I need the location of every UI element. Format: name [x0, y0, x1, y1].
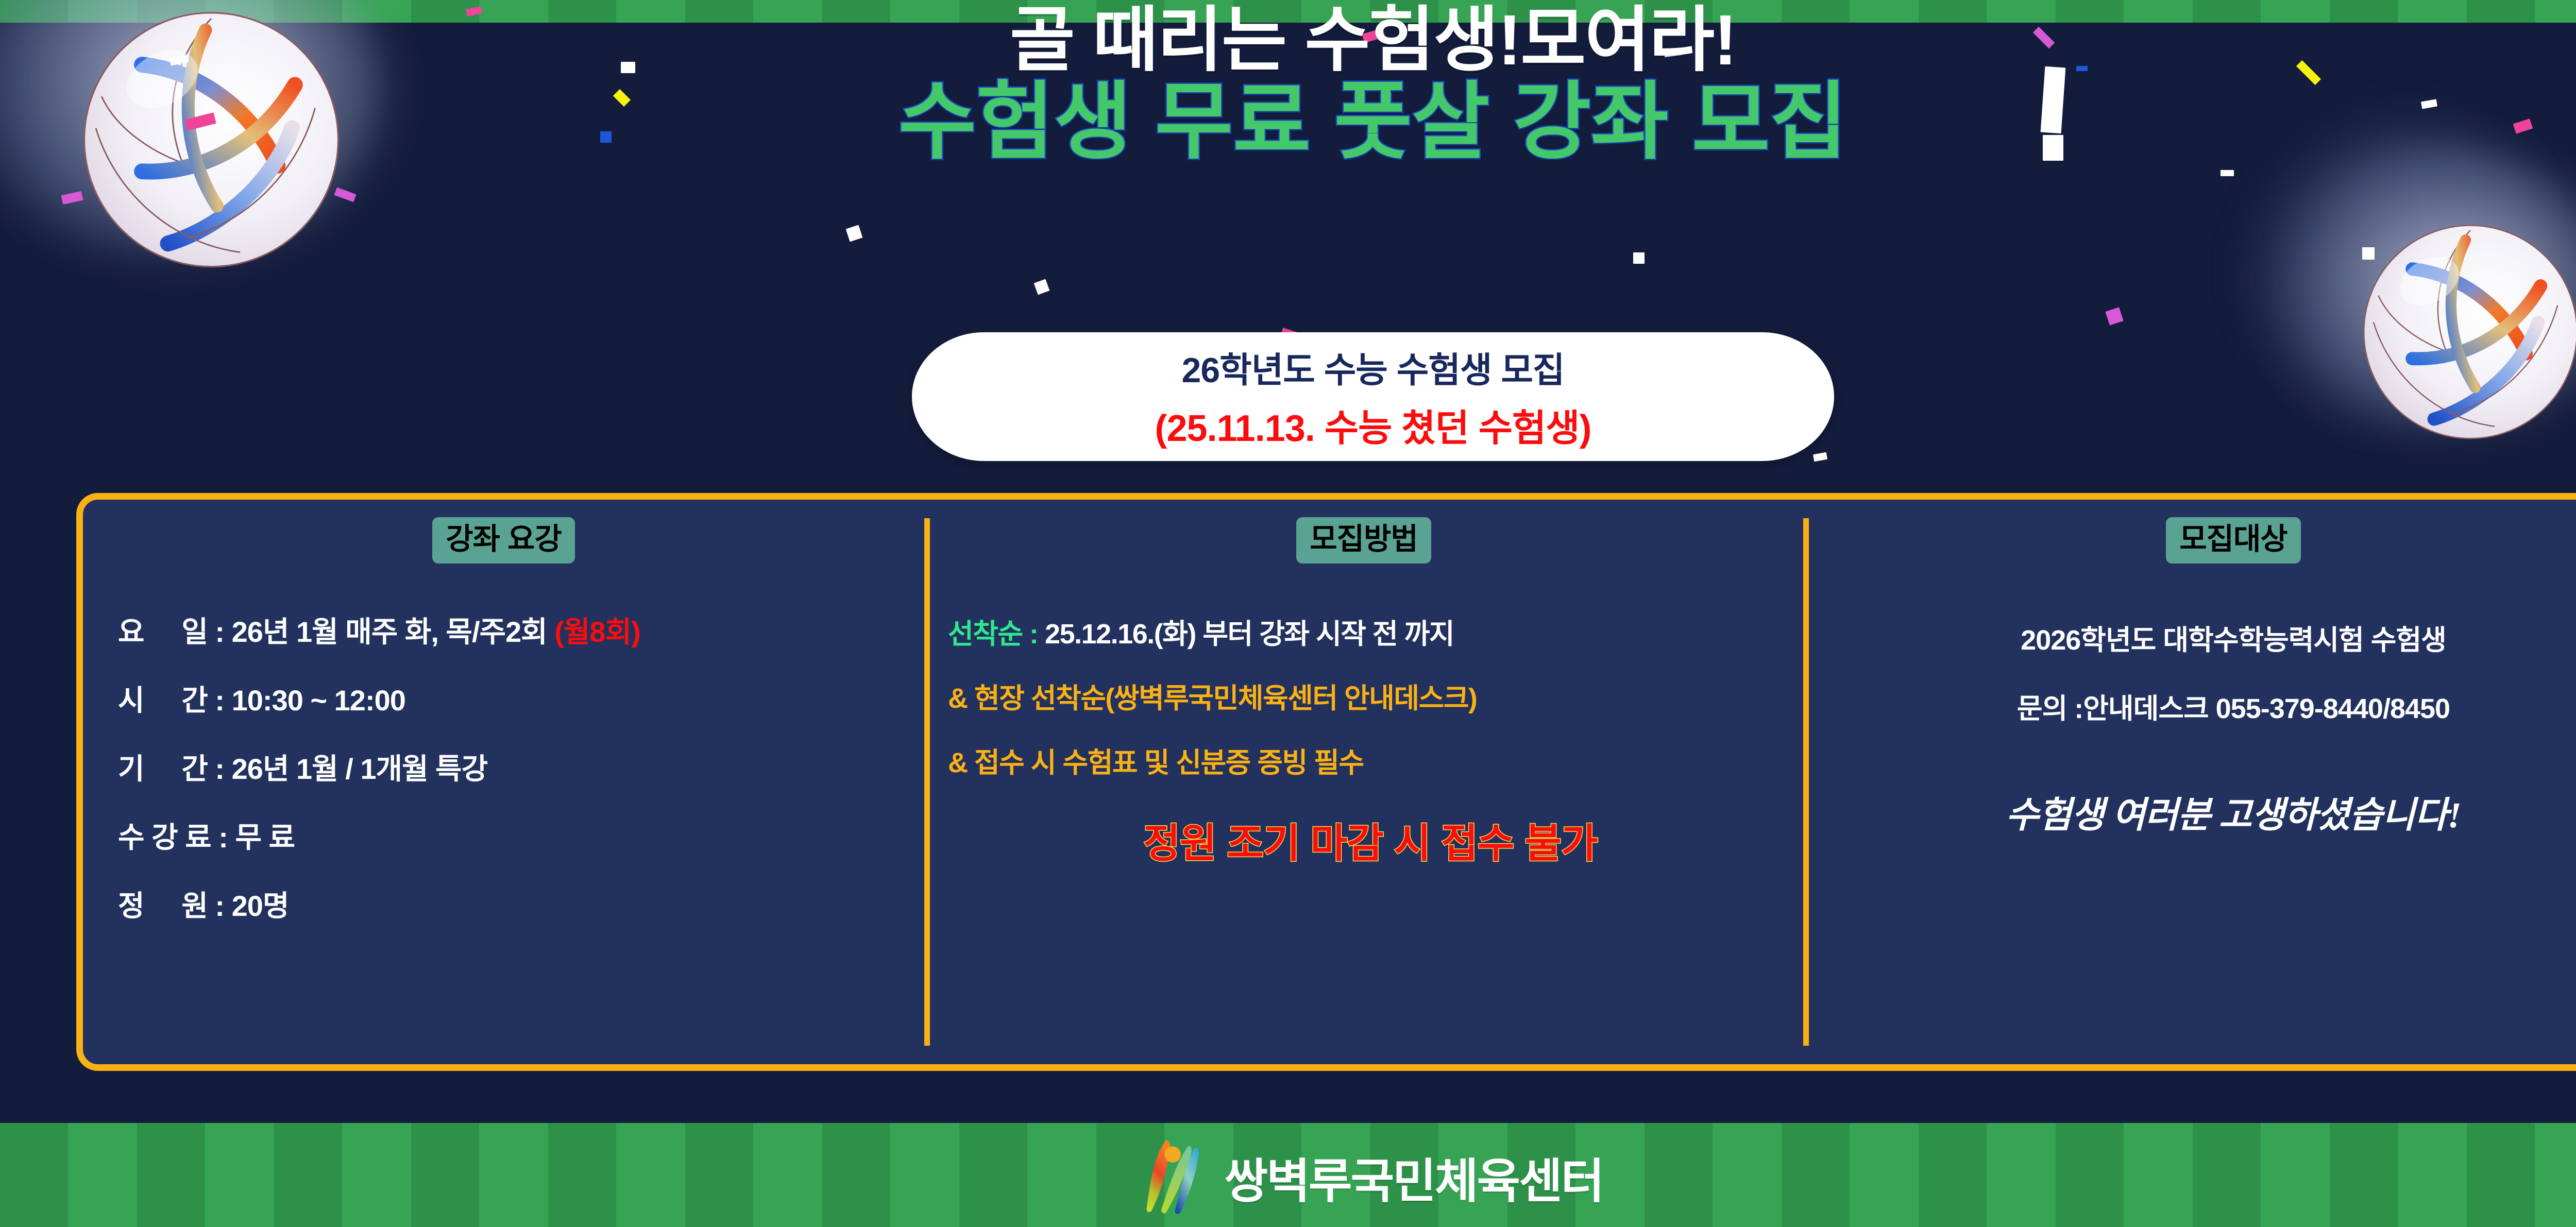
course-outline-row-value: 10:30 ~ 12:00: [232, 684, 405, 717]
apply-documents-line: & 접수 시 수험표 및 신분증 증빙 필수: [948, 740, 1793, 780]
apply-first-come-line: 선착순 : 25.12.16.(화) 부터 강좌 시작 전 까지: [948, 611, 1793, 652]
apply-first-come-detail: 25.12.16.(화) 부터 강좌 시작 전 까지: [1045, 619, 1454, 650]
pill-line-primary: 26학년도 수능 수험생 모집: [1182, 342, 1565, 393]
contact-line: 문의 :안내데스크 055-379-8440/8450: [1814, 686, 2576, 726]
apply-alert-text: 정원 조기 마감 시 접수 불가: [948, 811, 1793, 869]
course-outline-row-value: 26년 1월 매주 화, 목/주2회: [232, 616, 555, 648]
panel-divider-1: [924, 518, 930, 1046]
column-course-outline: 강좌 요강 요 일 : 26년 1월 매주 화, 목/주2회 (월8회)시 간 …: [83, 500, 924, 1064]
badge-course-outline: 강좌 요강: [432, 517, 575, 564]
course-outline-row: 정 원 : 20명: [118, 883, 914, 925]
course-outline-row-label: 수 강 료 :: [118, 814, 235, 856]
course-outline-row: 기 간 : 26년 1월 / 1개월 특강: [118, 746, 914, 788]
application-method-body: 선착순 : 25.12.16.(화) 부터 강좌 시작 전 까지 & 현장 선착…: [935, 611, 1793, 869]
headline-primary: 골 때리는 수험생!모여라!: [0, 4, 2576, 77]
column-target-audience: 모집대상 2026학년도 대학수학능력시험 수험생 문의 :안내데스크 055-…: [1803, 500, 2576, 1064]
badge-target-audience: 모집대상: [2166, 517, 2300, 564]
apply-onsite-line: & 현장 선착순(쌍벽루국민체육센터 안내데스크): [948, 675, 1793, 716]
course-outline-row: 수 강 료 : 무 료: [118, 814, 914, 856]
column-application-method: 모집방법 선착순 : 25.12.16.(화) 부터 강좌 시작 전 까지 & …: [924, 500, 1803, 1064]
course-outline-row-label: 정 원 :: [118, 883, 232, 925]
poster-root: 골 때리는 수험생!모여라! 수험생 무료 풋살 강좌 모집 26학년도 수능 …: [0, 0, 2576, 1227]
course-outline-row-label: 기 간 :: [118, 746, 232, 788]
logo-wordmark: 쌍벽루국민체육센터: [1225, 1143, 1603, 1212]
eligibility-pill: 26학년도 수능 수험생 모집 (25.11.13. 수능 쳤던 수험생): [912, 332, 1834, 461]
title-block: 골 때리는 수험생!모여라! 수험생 무료 풋살 강좌 모집: [0, 4, 2576, 165]
running-person-icon: [1143, 1138, 1211, 1216]
badge-application-method: 모집방법: [1296, 517, 1431, 564]
course-outline-row-value: 26년 1월 / 1개월 특강: [232, 753, 488, 785]
course-outline-row-label: 요 일 :: [118, 609, 232, 651]
course-outline-row: 시 간 : 10:30 ~ 12:00: [118, 677, 914, 719]
target-audience-body: 2026학년도 대학수학능력시험 수험생 문의 :안내데스크 055-379-8…: [1814, 617, 2576, 838]
course-outline-rows: 요 일 : 26년 1월 매주 화, 목/주2회 (월8회)시 간 : 10:3…: [93, 609, 914, 925]
course-outline-row: 요 일 : 26년 1월 매주 화, 목/주2회 (월8회): [118, 609, 914, 651]
course-outline-row-value: 무 료: [235, 821, 295, 854]
course-outline-row-label: 시 간 :: [118, 677, 232, 719]
headline-secondary: 수험생 무료 풋살 강좌 모집: [0, 79, 2576, 165]
pill-line-secondary: (25.11.13. 수능 쳤던 수험생): [1155, 398, 1591, 452]
info-panel: 강좌 요강 요 일 : 26년 1월 매주 화, 목/주2회 (월8회)시 간 …: [76, 493, 2576, 1071]
footer-logo: 쌍벽루국민체육센터: [1143, 1138, 1603, 1216]
panel-divider-2: [1803, 518, 1809, 1046]
closing-message: 수험생 여러분 고생하셨습니다!: [1814, 786, 2576, 838]
apply-first-come-tag: 선착순 :: [948, 619, 1045, 650]
target-audience-line: 2026학년도 대학수학능력시험 수험생: [1814, 617, 2576, 658]
course-outline-row-value: 20명: [232, 890, 289, 922]
course-outline-row-highlight: (월8회): [554, 616, 640, 648]
